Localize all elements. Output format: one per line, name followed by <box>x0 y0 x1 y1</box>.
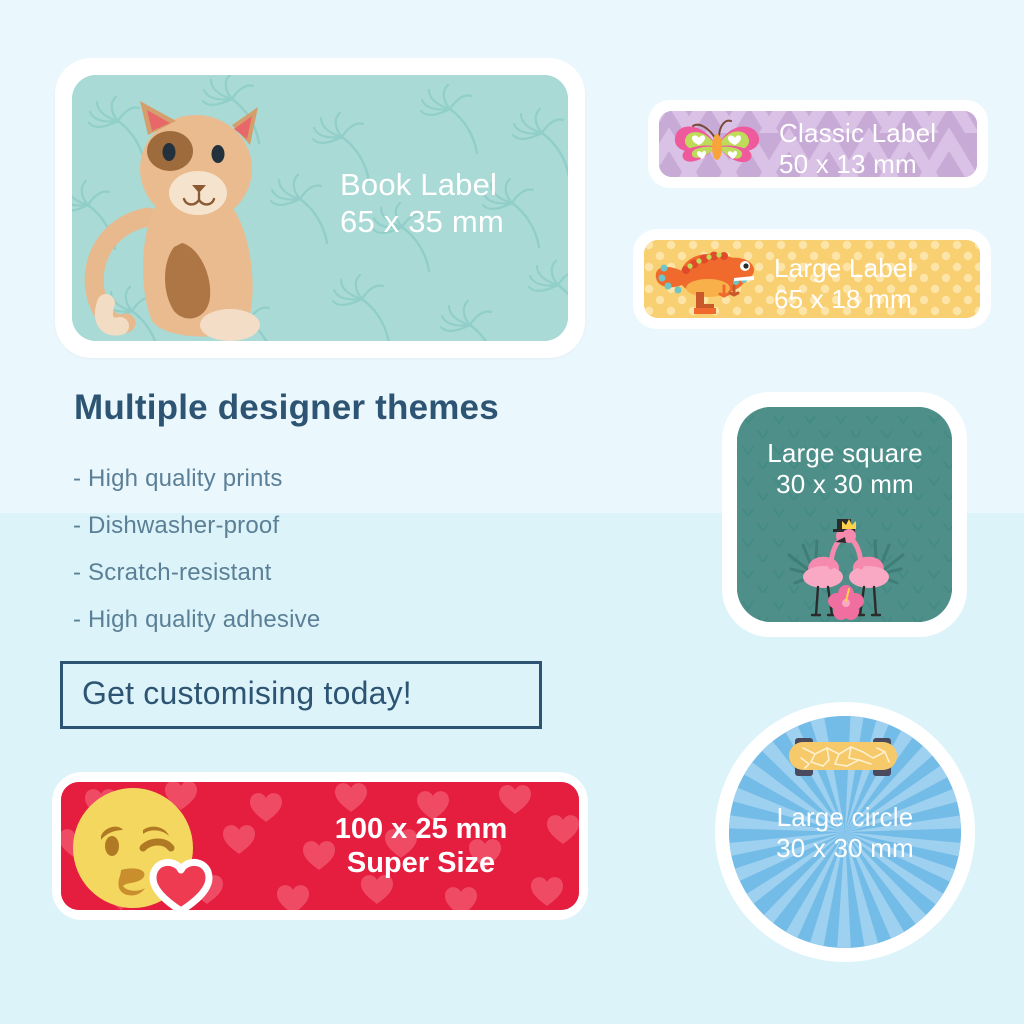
feature-item: - High quality prints <box>73 462 543 509</box>
cat-illustration-icon <box>82 97 302 341</box>
book-label-text: Book Label 65 x 35 mm <box>340 167 504 240</box>
super-size-text: 100 x 25 mm Super Size <box>271 812 571 880</box>
feature-item: - Dishwasher-proof <box>73 509 543 556</box>
cta-label: Get customising today! <box>82 675 412 712</box>
flamingo-pair-illustration-icon <box>785 515 907 620</box>
cta-button[interactable]: Get customising today! <box>60 661 542 729</box>
large-label-text: Large Label 65 x 18 mm <box>774 253 914 314</box>
page-title: Multiple designer themes <box>74 388 499 428</box>
book-label-name: Book Label <box>340 167 504 204</box>
sticker-book-label[interactable]: Book Label 65 x 35 mm <box>55 58 585 358</box>
sticker-classic-label[interactable]: Classic Label 50 x 13 mm <box>648 100 988 188</box>
classic-label-size: 50 x 13 mm <box>779 149 936 177</box>
large-label-size: 65 x 18 mm <box>774 284 914 315</box>
classic-label-text: Classic Label 50 x 13 mm <box>779 118 936 177</box>
large-circle-name: Large circle <box>735 802 955 833</box>
kissing-heart-emoji-icon <box>65 782 215 910</box>
book-label-size: 65 x 35 mm <box>340 204 504 241</box>
large-square-face: Large square 30 x 30 mm <box>737 407 952 622</box>
sticker-super-size[interactable]: 100 x 25 mm Super Size <box>52 772 588 920</box>
classic-label-name: Classic Label <box>779 118 936 149</box>
large-circle-face: Large circle 30 x 30 mm <box>729 716 961 948</box>
large-square-text: Large square 30 x 30 mm <box>755 438 935 499</box>
dinosaur-illustration-icon <box>650 242 764 318</box>
feature-list: - High quality prints - Dishwasher-proof… <box>73 462 543 650</box>
large-square-size: 30 x 30 mm <box>755 469 935 500</box>
super-size-name: Super Size <box>271 846 571 880</box>
large-circle-text: Large circle 30 x 30 mm <box>735 802 955 863</box>
sticker-large-square[interactable]: Large square 30 x 30 mm <box>722 392 967 637</box>
super-size-face: 100 x 25 mm Super Size <box>61 782 579 910</box>
feature-item: - High quality adhesive <box>73 603 543 650</box>
large-square-name: Large square <box>755 438 935 469</box>
super-size-dimensions: 100 x 25 mm <box>271 812 571 846</box>
classic-label-face: Classic Label 50 x 13 mm <box>659 111 977 177</box>
skateboard-illustration-icon <box>777 734 909 782</box>
large-label-face: Large Label 65 x 18 mm <box>644 240 980 318</box>
sticker-large-circle[interactable]: Large circle 30 x 30 mm <box>715 702 975 962</box>
sticker-large-label[interactable]: Large Label 65 x 18 mm <box>633 229 991 329</box>
feature-item: - Scratch-resistant <box>73 556 543 603</box>
book-label-face: Book Label 65 x 35 mm <box>72 75 568 341</box>
large-label-name: Large Label <box>774 253 914 284</box>
butterfly-illustration-icon <box>667 116 767 174</box>
large-circle-size: 30 x 30 mm <box>735 833 955 864</box>
